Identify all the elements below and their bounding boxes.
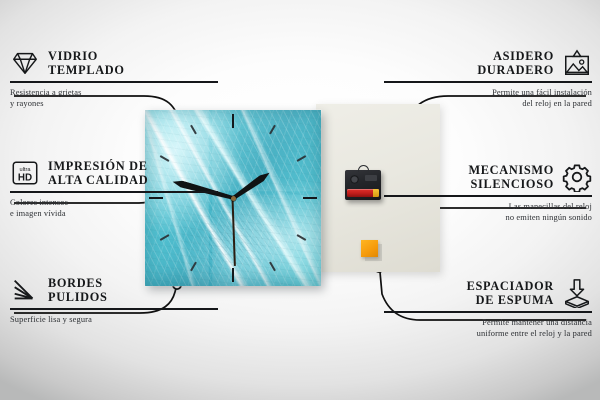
foam-spacer-icon bbox=[562, 278, 592, 308]
feature-impresion-alta-calidad: ultra HD IMPRESIÓN DE ALTA CALIDAD Color… bbox=[10, 158, 218, 219]
feature-title: IMPRESIÓN DE ALTA CALIDAD bbox=[48, 159, 148, 188]
polished-edges-icon bbox=[10, 275, 40, 305]
feature-description: Superficie lisa y segura bbox=[10, 314, 218, 325]
feature-title-line2: SILENCIOSO bbox=[468, 177, 554, 192]
feature-desc-line2: del reloj en la pared bbox=[384, 98, 592, 109]
feature-header: ESPACIADOR DE ESPUMA bbox=[384, 278, 592, 308]
feature-desc-line1: Colores intensos bbox=[10, 197, 218, 208]
feature-vidrio-templado: VIDRIO TEMPLADO Resistencia a grietas y … bbox=[10, 48, 218, 109]
clock-tick-12 bbox=[232, 114, 234, 198]
feature-description: Las manecillas del reloj no emiten ningú… bbox=[384, 201, 592, 224]
feature-description: Resistencia a grietas y rayones bbox=[10, 87, 218, 110]
feature-title: BORDES PULIDOS bbox=[48, 276, 108, 305]
feature-description: Permite una fácil instalación del reloj … bbox=[384, 87, 592, 110]
feature-title: ESPACIADOR DE ESPUMA bbox=[467, 279, 554, 308]
mechanism-knob bbox=[350, 175, 359, 184]
feature-desc-line1: Superficie lisa y segura bbox=[10, 314, 218, 325]
feature-divider bbox=[10, 81, 218, 83]
feature-divider bbox=[10, 191, 218, 193]
feature-title-line1: BORDES bbox=[48, 276, 108, 291]
foam-spacer bbox=[361, 240, 378, 257]
feature-title-line1: MECANISMO bbox=[468, 163, 554, 178]
infographic-canvas: VIDRIO TEMPLADO Resistencia a grietas y … bbox=[0, 0, 600, 400]
clock-tick-3 bbox=[233, 197, 317, 199]
gear-icon bbox=[562, 162, 592, 192]
feature-header: MECANISMO SILENCIOSO bbox=[384, 162, 592, 192]
ultra-hd-icon: ultra HD bbox=[10, 158, 40, 188]
feature-header: VIDRIO TEMPLADO bbox=[10, 48, 218, 78]
clock-hub-cap bbox=[231, 196, 236, 201]
clock-mechanism bbox=[345, 170, 381, 200]
feature-espaciador-de-espuma: ESPACIADOR DE ESPUMA Permite mantener un… bbox=[384, 278, 592, 339]
feature-desc-line1: Resistencia a grietas bbox=[10, 87, 218, 98]
picture-frame-hanger-icon bbox=[562, 48, 592, 78]
feature-description: Colores intensos e imagen vívida bbox=[10, 197, 218, 220]
feature-header: ASIDERO DURADERO bbox=[384, 48, 592, 78]
feature-title-line1: VIDRIO bbox=[48, 49, 125, 64]
feature-title: MECANISMO SILENCIOSO bbox=[468, 163, 554, 192]
feature-divider bbox=[384, 195, 592, 197]
feature-title-line1: ASIDERO bbox=[477, 49, 554, 64]
feature-divider bbox=[384, 81, 592, 83]
feature-desc-line1: Las manecillas del reloj bbox=[384, 201, 592, 212]
feature-desc-line2: e imagen vívida bbox=[10, 208, 218, 219]
feature-header: ultra HD IMPRESIÓN DE ALTA CALIDAD bbox=[10, 158, 218, 188]
feature-desc-line2: no emiten ningún sonido bbox=[384, 212, 592, 223]
feature-title: VIDRIO TEMPLADO bbox=[48, 49, 125, 78]
feature-desc-line1: Permite una fácil instalación bbox=[384, 87, 592, 98]
feature-divider bbox=[384, 311, 592, 313]
feature-title-line2: DURADERO bbox=[477, 63, 554, 78]
feature-desc-line2: uniforme entre el reloj y la pared bbox=[384, 328, 592, 339]
feature-desc-line2: y rayones bbox=[10, 98, 218, 109]
feature-title-line2: ALTA CALIDAD bbox=[48, 173, 148, 188]
mechanism-slot bbox=[365, 175, 377, 181]
mechanism-hanger-icon bbox=[358, 165, 369, 172]
feature-title: ASIDERO DURADERO bbox=[477, 49, 554, 78]
feature-title-line1: IMPRESIÓN DE bbox=[48, 159, 148, 174]
feature-title-line1: ESPACIADOR bbox=[467, 279, 554, 294]
feature-mecanismo-silencioso: MECANISMO SILENCIOSO Las manecillas del … bbox=[384, 162, 592, 223]
mechanism-battery bbox=[347, 189, 379, 197]
feature-desc-line1: Permite mantener una distancia bbox=[384, 317, 592, 328]
feature-asidero-duradero: ASIDERO DURADERO Permite una fácil insta… bbox=[384, 48, 592, 109]
feature-title-line2: TEMPLADO bbox=[48, 63, 125, 78]
svg-text:HD: HD bbox=[18, 173, 32, 184]
feature-bordes-pulidos: BORDES PULIDOS Superficie lisa y segura bbox=[10, 275, 218, 325]
feature-header: BORDES PULIDOS bbox=[10, 275, 218, 305]
product-name: Reloj de pared de vidrio cuadrado bbox=[0, 0, 1, 1]
feature-description: Permite mantener una distancia uniforme … bbox=[384, 317, 592, 340]
diamond-icon bbox=[10, 48, 40, 78]
feature-title-line2: DE ESPUMA bbox=[467, 293, 554, 308]
feature-divider bbox=[10, 308, 218, 310]
feature-title-line2: PULIDOS bbox=[48, 290, 108, 305]
